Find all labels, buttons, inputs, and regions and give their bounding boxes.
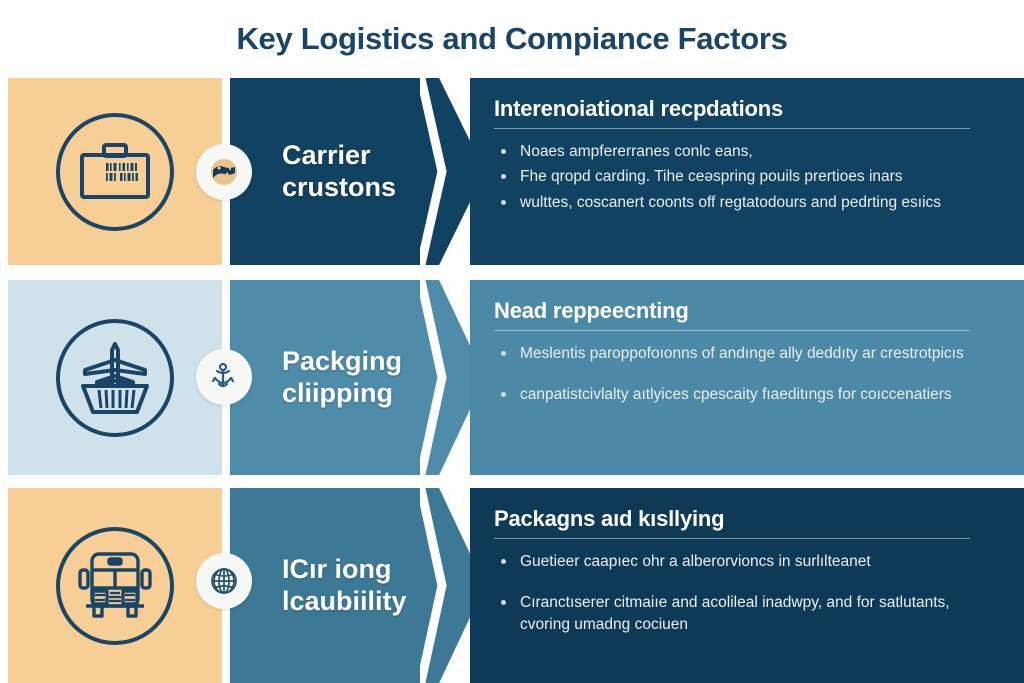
globe-grid-badge-icon [196,553,252,609]
bullet-list-2: Meslentis paroppofoıonns of andınge ally… [494,343,998,406]
header-band: Key Logistics and Compiance Factors [0,0,1024,78]
list-item: Noaes ampfererranes conlc eans, [494,141,990,162]
arrow-panel-3: ICır iong lcaubiility [230,488,485,683]
arrow-label-1: Carrier crustons [282,140,432,204]
list-item: Fhe qropd carding. Tihe ceəspring pouils… [494,166,990,187]
list-item: Meslentis paroppofoıonns of andınge ally… [494,343,990,364]
content-divider-2 [494,330,970,331]
row-customs-traceability: ICır iong lcaubiility Packagns aıd kısll… [0,488,1024,683]
briefcase-barcode-icon [56,113,174,231]
arrow-label-2: Packging cliipping [282,346,432,410]
content-title-1: Interenoiational recpdations [494,96,998,122]
content-panel-3: Packagns aıd kısllying Guetieer caapıec … [470,488,1024,683]
arrow-panel-1: Carrier crustons [230,78,485,265]
airplane-basket-icon [56,319,174,437]
row-carrier-customs: Carrier crustons Interenoiational recpda… [0,78,1024,265]
content-title-3: Packagns aıd kısllying [494,506,998,532]
bullet-list-1: Noaes ampfererranes conlc eans, Fhe qrop… [494,141,998,213]
icon-cell-2 [8,280,222,475]
list-item: Cıranctıserer citmaiıe and acolileal ina… [494,592,990,635]
content-divider-1 [494,128,970,129]
content-panel-2: Nead reppeecnting Meslentis paroppofoıon… [470,280,1024,475]
row-packaging-shipping: Packging cliipping Nead reppeecnting Mes… [0,280,1024,475]
list-item: Guetieer caapıec ohr a alberorvioncs in … [494,551,990,572]
arrow-panel-2: Packging cliipping [230,280,485,475]
icon-cell-3 [8,488,222,683]
content-panel-1: Interenoiational recpdations Noaes ampfe… [470,78,1024,265]
infographic-canvas: Key Logistics and Compiance Factors [0,0,1024,683]
row-gap-1 [0,265,1024,280]
arrow-label-3: ICır iong lcaubiility [282,554,432,618]
row-gap-2 [0,475,1024,488]
list-item: canpatistcivlalty aıtlyices cpescaity fı… [494,384,990,405]
page-title: Key Logistics and Compiance Factors [236,21,787,57]
truck-front-icon [56,527,174,645]
content-divider-3 [494,538,970,539]
bullet-list-3: Guetieer caapıec ohr a alberorvioncs in … [494,551,998,635]
icon-cell-1 [8,78,222,265]
content-title-2: Nead reppeecnting [494,298,998,324]
list-item: wulttes, coscanert coonts off regtatodou… [494,192,990,213]
globe-badge-icon [196,144,252,200]
anchor-chain-badge-icon [196,349,252,405]
